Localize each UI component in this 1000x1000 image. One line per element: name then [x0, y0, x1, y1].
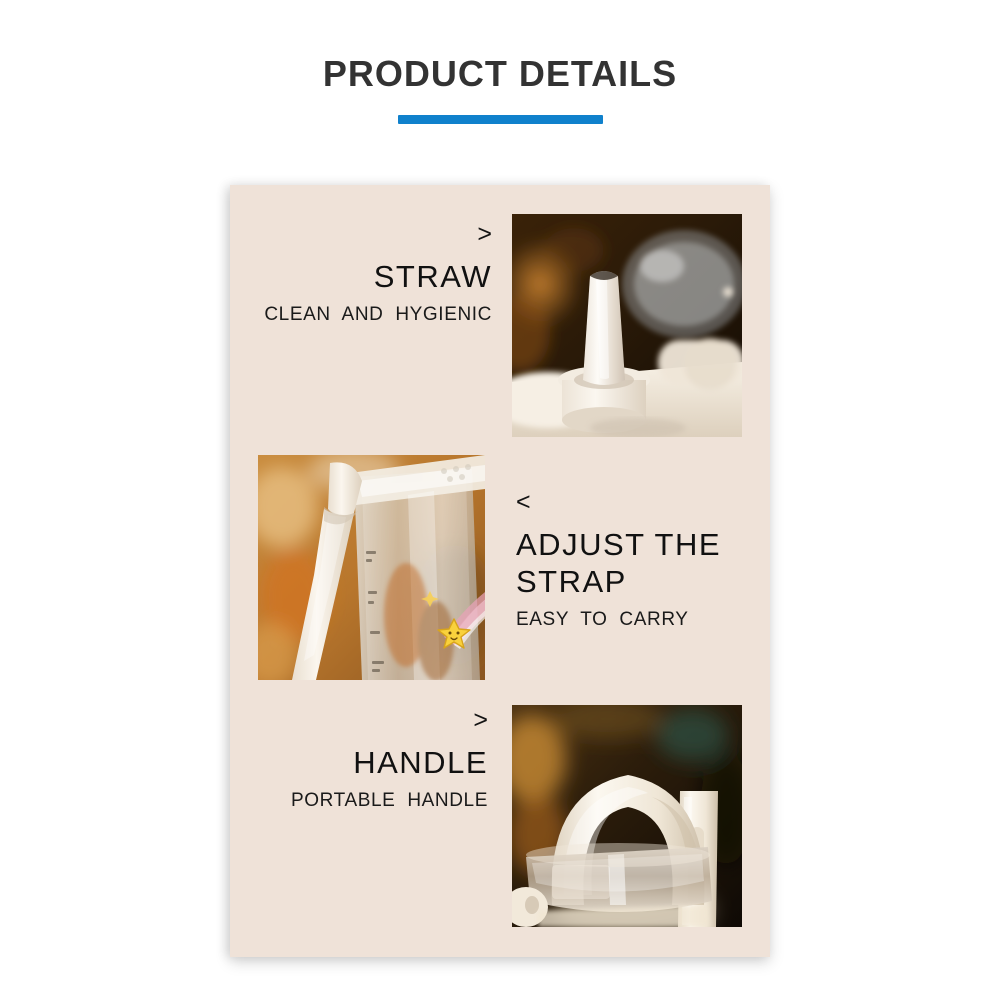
product-details-infographic: PRODUCT DETAILS [0, 0, 1000, 1000]
adjustable-strap-photo [258, 455, 485, 680]
straw-spout-photo [512, 214, 742, 437]
chevron-left-icon: < [516, 490, 766, 514]
section-straw-subtitle: CLEAN AND HYGIENIC [230, 303, 492, 327]
title-underline-bar [398, 115, 603, 124]
section-handle-subtitle: PORTABLE HANDLE [230, 789, 488, 813]
chevron-right-icon: > [230, 708, 488, 732]
section-strap-heading: ADJUST THE STRAP [516, 526, 766, 600]
content-panel: > STRAW CLEAN AND HYGIENIC [230, 185, 770, 957]
chevron-right-icon: > [230, 222, 492, 246]
page-title: PRODUCT DETAILS [0, 52, 1000, 96]
section-handle-heading: HANDLE [230, 744, 488, 781]
carry-handle-photo [512, 705, 742, 927]
section-strap: < ADJUST THE STRAP EASY TO CARRY [516, 490, 766, 632]
section-straw-heading: STRAW [230, 258, 492, 295]
header: PRODUCT DETAILS [0, 52, 1000, 124]
section-handle: > HANDLE PORTABLE HANDLE [230, 708, 488, 813]
section-strap-subtitle: EASY TO CARRY [516, 608, 766, 632]
section-straw: > STRAW CLEAN AND HYGIENIC [230, 222, 492, 327]
